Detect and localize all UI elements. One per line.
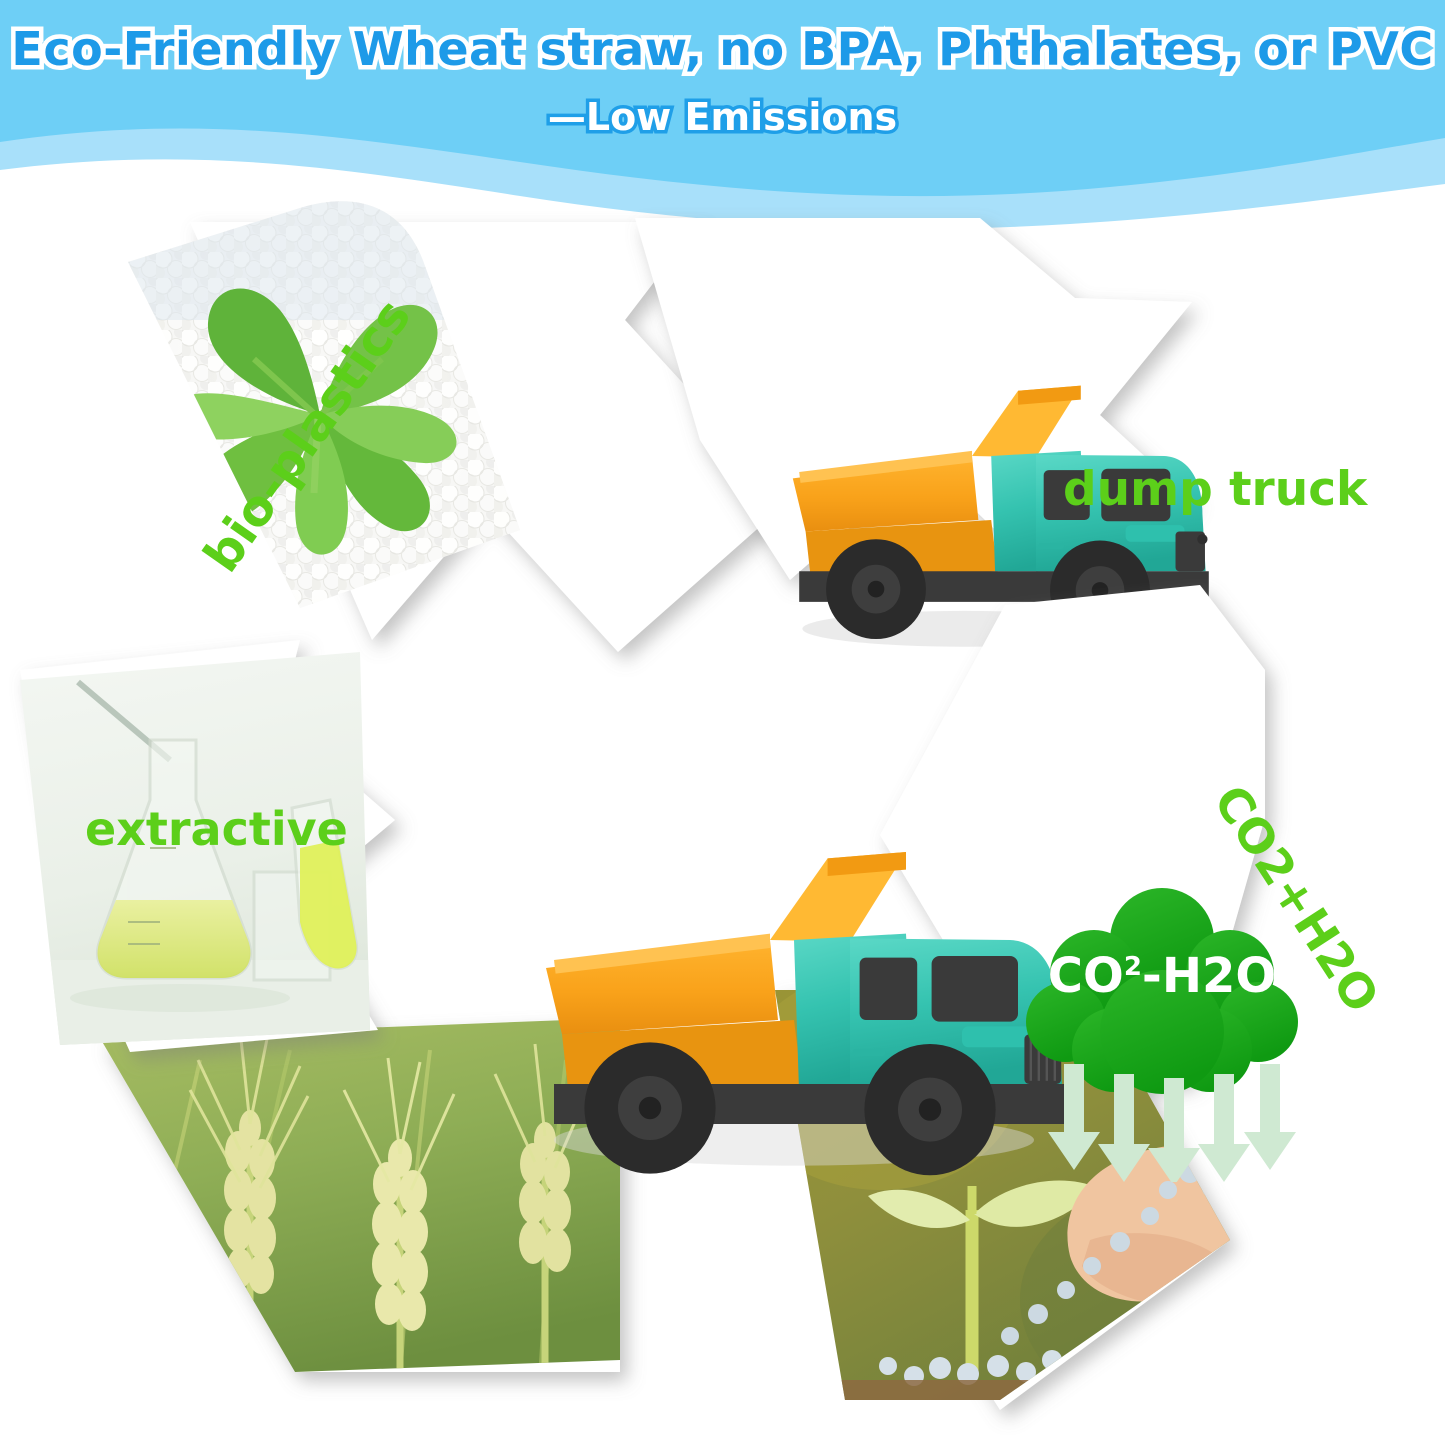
co2-cloud-icon-wrapper: CO2-H2O xyxy=(1022,882,1302,1182)
co2-suffix: -H2O xyxy=(1142,948,1276,1004)
label-extractive: extractive xyxy=(85,806,348,852)
co2-prefix: CO xyxy=(1048,948,1124,1004)
co2-cloud-icon xyxy=(1022,882,1302,1182)
label-dump-truck: dump truck xyxy=(1063,466,1367,513)
page-subtitle: —Low Emissions xyxy=(0,95,1445,139)
infographic-root: Eco-Friendly Wheat straw, no BPA, Phthal… xyxy=(0,0,1445,1445)
co2-superscript: 2 xyxy=(1124,952,1142,982)
header-banner: Eco-Friendly Wheat straw, no BPA, Phthal… xyxy=(0,0,1445,230)
page-title: Eco-Friendly Wheat straw, no BPA, Phthal… xyxy=(0,22,1445,76)
cloud-down-arrows xyxy=(1048,1064,1296,1182)
co2-formula-text: CO2-H2O xyxy=(1022,948,1302,1004)
recycling-cycle-diagram: CO2-H2O bio-plastics dump truck CO2+H2O … xyxy=(0,200,1445,1445)
panel-wheat-photo xyxy=(90,1010,640,1390)
